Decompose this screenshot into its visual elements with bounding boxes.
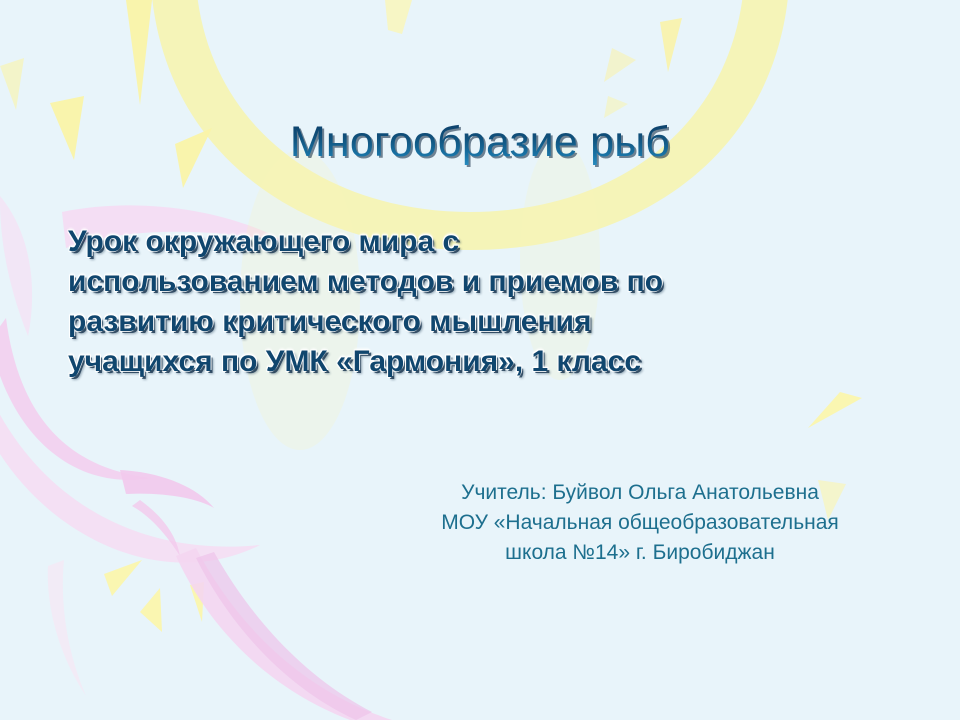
- attribution-line-school-1: МОУ «Начальная общеобразовательная: [370, 508, 910, 538]
- slide-title: Многообразие рыб: [0, 118, 960, 167]
- subtitle-line-2: использованием методов и приемов по: [68, 262, 898, 302]
- slide-subtitle: Урок окружающего мира с использованием м…: [68, 222, 898, 382]
- subtitle-line-1: Урок окружающего мира с: [68, 222, 898, 262]
- attribution-line-teacher: Учитель: Буйвол Ольга Анатольевна: [370, 478, 910, 508]
- subtitle-line-3: развитию критического мышления: [68, 302, 898, 342]
- attribution-line-school-2: школа №14» г. Биробиджан: [370, 538, 910, 568]
- presentation-slide: Многообразие рыб Урок окружающего мира с…: [0, 0, 960, 720]
- slide-attribution: Учитель: Буйвол Ольга Анатольевна МОУ «Н…: [370, 478, 910, 567]
- subtitle-line-4: учащихся по УМК «Гармония», 1 класс: [68, 342, 898, 382]
